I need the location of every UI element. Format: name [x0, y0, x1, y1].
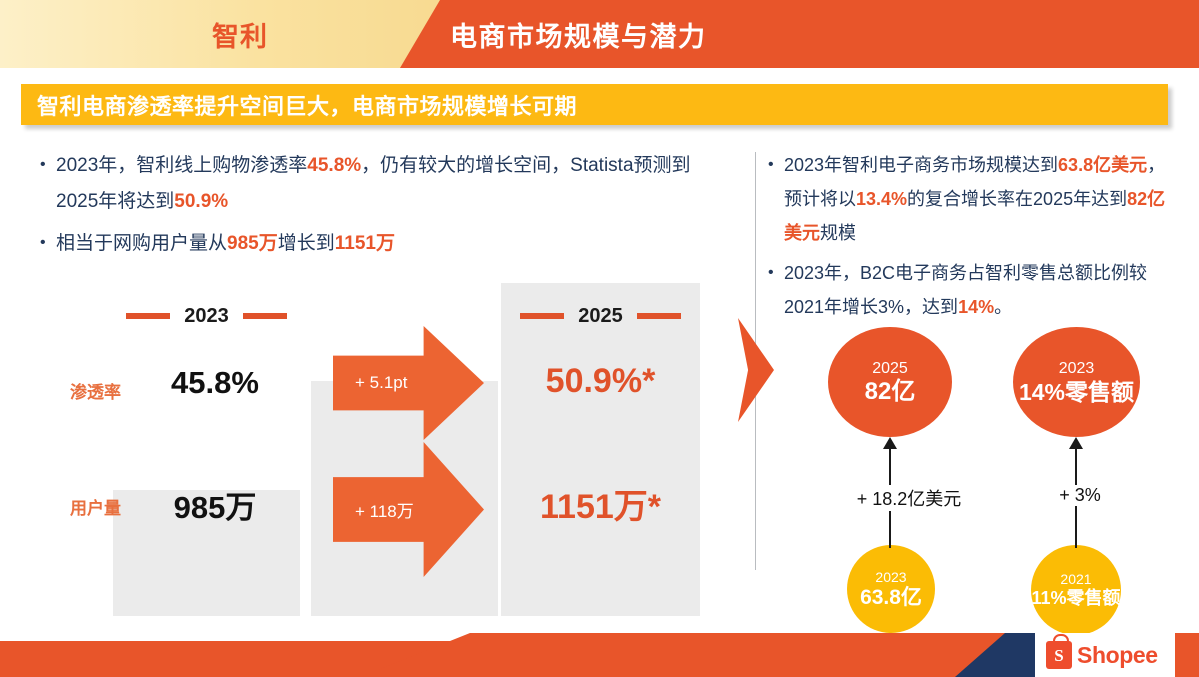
footer-band-right — [1175, 633, 1199, 677]
value-users-2025: 1151万* — [501, 479, 700, 528]
gray-panel-2025 — [501, 283, 700, 616]
header-country-label: 智利 — [120, 0, 360, 68]
bag-handle-icon — [1053, 634, 1069, 646]
page-title: 电商市场规模与潜力 — [450, 0, 707, 68]
circle-retail-2021-value: 11%零售额 — [1031, 588, 1120, 609]
highlight-value: 13.4% — [856, 189, 907, 209]
year-label-2025: 2025 — [578, 305, 623, 328]
bullet-dot-icon: • — [40, 148, 56, 220]
shopee-logo: S Shopee — [1046, 637, 1158, 673]
bullet-dot-icon: • — [768, 256, 784, 324]
delta-label-retail: + 3% — [1030, 485, 1130, 506]
bullet-text: 2023年，B2C电子商务占智利零售总额比例较2021年增长3%，达到14%。 — [784, 256, 1178, 324]
year-header-2025: 2025 — [501, 303, 700, 329]
bullet-item: •2023年，B2C电子商务占智利零售总额比例较2021年增长3%，达到14%。 — [768, 256, 1178, 324]
circle-gmv-2025: 2025 82亿 — [828, 327, 952, 437]
bullet-text: 2023年智利电子商务市场规模达到63.8亿美元，预计将以13.4%的复合增长率… — [784, 148, 1178, 250]
highlight-value: 63.8亿美元 — [1058, 155, 1147, 175]
arrow-delta-penetration-label: + 5.1pt — [333, 373, 407, 393]
circle-retail-2023: 2023 14%零售额 — [1013, 327, 1140, 437]
plain-text: 规模 — [820, 223, 856, 243]
dash-right-icon — [243, 313, 287, 319]
highlight-value: 45.8% — [307, 155, 361, 176]
growth-arrow-head-right-icon — [1069, 437, 1083, 449]
row-label-users: 用户量 — [70, 494, 121, 519]
left-bullet-list: •2023年，智利线上购物渗透率45.8%，仍有较大的增长空间，Statista… — [40, 148, 700, 268]
value-penetration-2025: 50.9%* — [501, 362, 700, 401]
highlight-value: 1151万 — [335, 233, 395, 254]
plain-text: 增长到 — [278, 233, 335, 254]
subtitle-bar: 智利电商渗透率提升空间巨大，电商市场规模增长可期 — [21, 84, 1168, 125]
year-header-2023: 2023 — [113, 303, 300, 329]
plain-text: 相当于网购用户量从 — [56, 233, 227, 254]
circle-retail-2021: 2021 11%零售额 — [1031, 545, 1121, 635]
plain-text: 2023年，智利线上购物渗透率 — [56, 155, 307, 176]
bullet-text: 2023年，智利线上购物渗透率45.8%，仍有较大的增长空间，Statista预… — [56, 148, 700, 220]
highlight-value: 50.9% — [174, 191, 228, 212]
right-bullet-list: •2023年智利电子商务市场规模达到63.8亿美元，预计将以13.4%的复合增长… — [768, 148, 1178, 330]
circle-gmv-2023: 2023 63.8亿 — [847, 545, 935, 633]
bullet-dot-icon: • — [768, 148, 784, 250]
row-label-penetration: 渗透率 — [70, 378, 121, 403]
arrow-delta-users-label: + 118万 — [333, 497, 414, 522]
shopping-bag-icon: S — [1046, 641, 1072, 669]
dash-left-icon — [126, 313, 170, 319]
plain-text: 的复合增长率在2025年达到 — [907, 189, 1127, 209]
circle-retail-2021-year: 2021 — [1060, 571, 1091, 588]
chevron-right-icon — [738, 318, 774, 422]
slide-root: 智利 电商市场规模与潜力 智利电商渗透率提升空间巨大，电商市场规模增长可期 •2… — [0, 0, 1199, 677]
growth-arrow-head-left-icon — [883, 437, 897, 449]
bullet-dot-icon: • — [40, 226, 56, 262]
circle-retail-2023-year: 2023 — [1059, 359, 1095, 379]
highlight-value: 985万 — [227, 233, 278, 254]
bullet-item: •2023年智利电子商务市场规模达到63.8亿美元，预计将以13.4%的复合增长… — [768, 148, 1178, 250]
subtitle-text: 智利电商渗透率提升空间巨大，电商市场规模增长可期 — [21, 89, 577, 121]
highlight-value: 14% — [958, 297, 994, 317]
bullet-item: •2023年，智利线上购物渗透率45.8%，仍有较大的增长空间，Statista… — [40, 148, 700, 220]
circle-retail-2023-value: 14%零售额 — [1019, 379, 1134, 405]
circle-gmv-2025-year: 2025 — [872, 359, 908, 379]
bullet-text: 相当于网购用户量从985万增长到1151万 — [56, 226, 395, 262]
value-penetration-2023: 45.8% — [145, 365, 285, 401]
plain-text: 2023年智利电子商务市场规模达到 — [784, 155, 1058, 175]
delta-label-gmv: + 18.2亿美元 — [820, 485, 998, 511]
shopee-wordmark: Shopee — [1077, 642, 1158, 669]
dash-right-icon — [637, 313, 681, 319]
plain-text: 。 — [994, 297, 1012, 317]
shopee-logo-initial: S — [1054, 647, 1063, 664]
slide-header: 智利 电商市场规模与潜力 — [0, 0, 1199, 68]
value-users-2023: 985万 — [145, 482, 285, 527]
bullet-item: •相当于网购用户量从985万增长到1151万 — [40, 226, 700, 262]
footer-band-mid — [360, 633, 1020, 677]
circle-gmv-2023-value: 63.8亿 — [860, 586, 922, 610]
year-label-2023: 2023 — [184, 305, 229, 328]
circle-gmv-2025-value: 82亿 — [865, 379, 916, 405]
circle-gmv-2023-year: 2023 — [875, 569, 906, 586]
slide-footer: S Shopee — [0, 633, 1199, 677]
dash-left-icon — [520, 313, 564, 319]
